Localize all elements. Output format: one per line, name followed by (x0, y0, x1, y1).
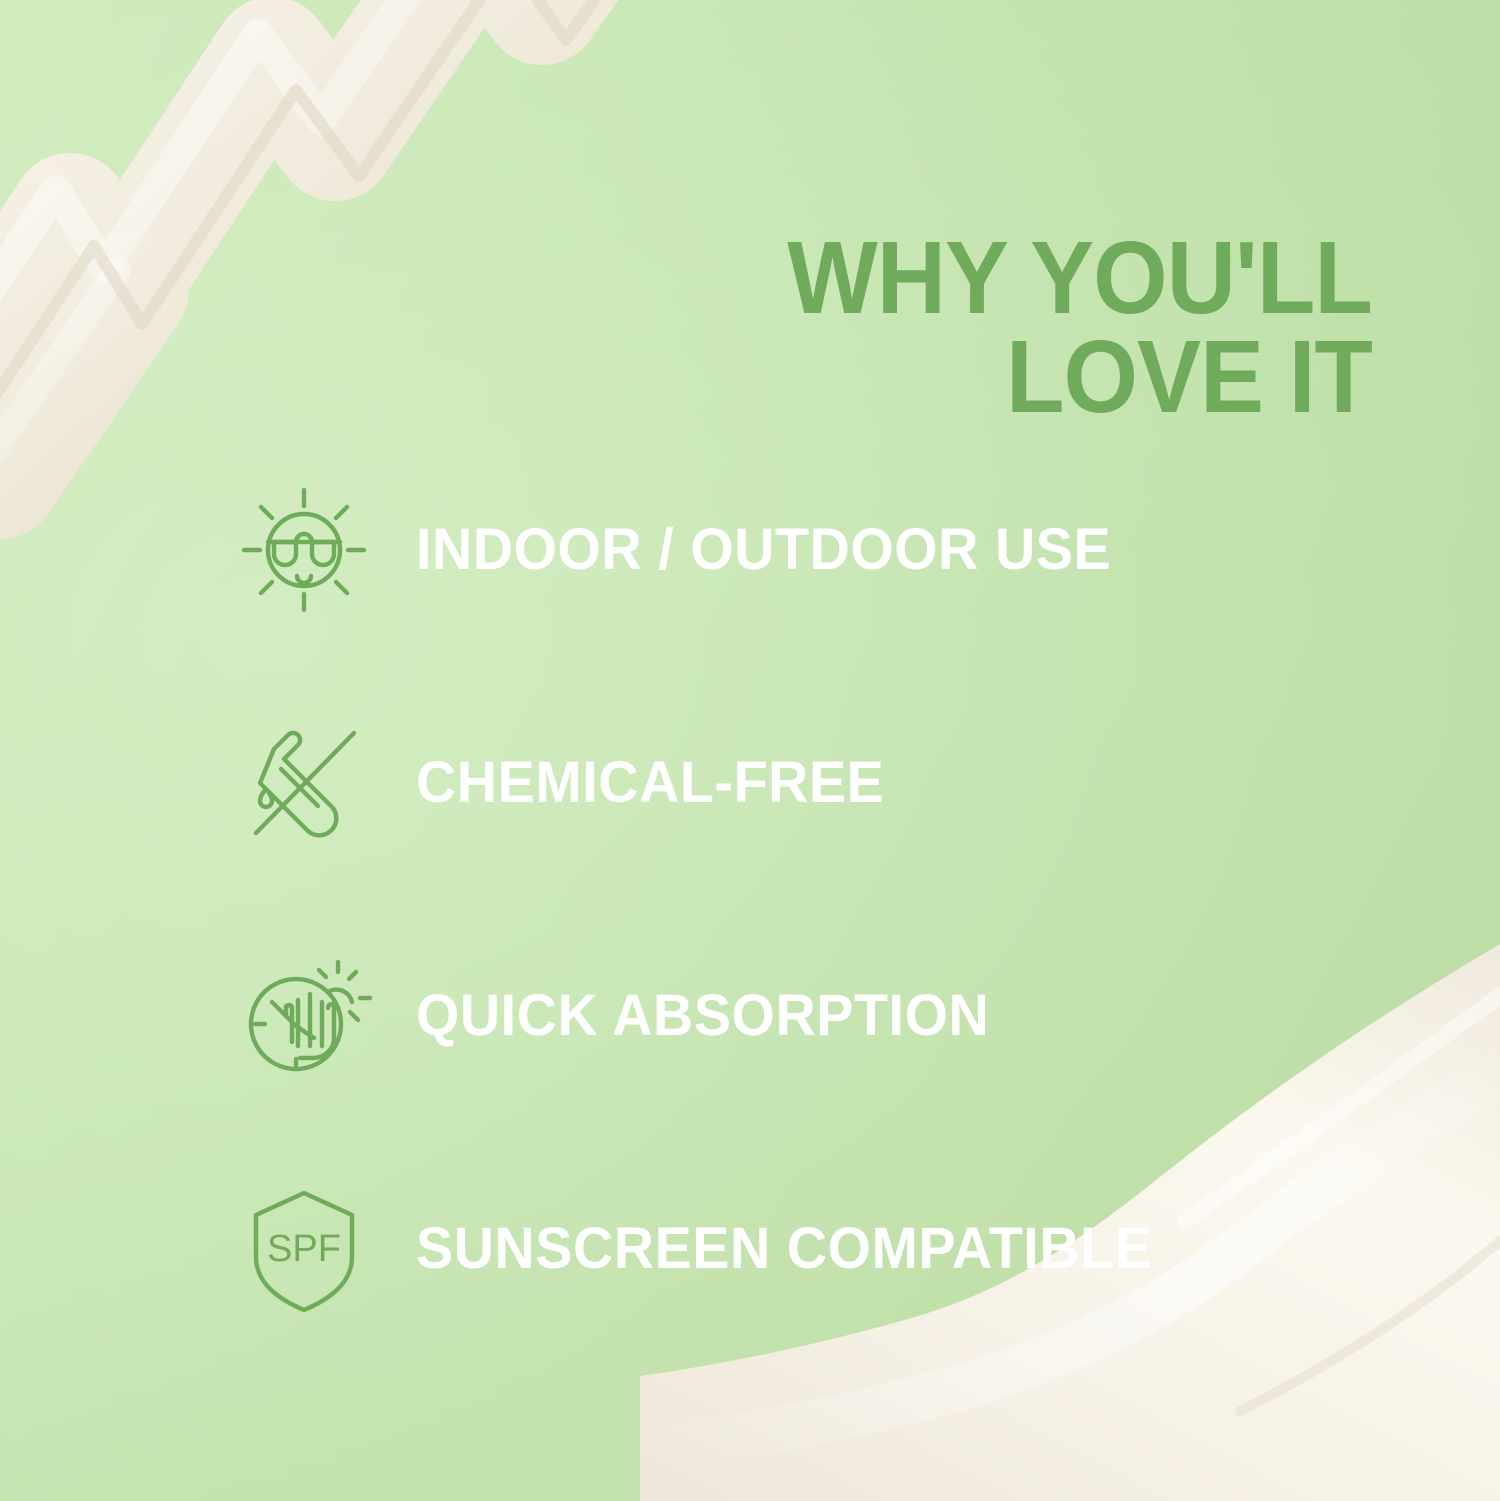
sun-sunglasses-icon (234, 480, 374, 620)
feature-label-indoor-outdoor-use: INDOOR / OUTDOOR USE (416, 521, 1111, 579)
feature-list: INDOOR / OUTDOOR USE CHEMICAL-FREE (234, 470, 1414, 1329)
test-tube-crossed-out-icon (234, 713, 374, 853)
page-title: WHY YOU'LLLOVE IT (665, 229, 1372, 427)
feature-row-chemical-free: CHEMICAL-FREE (234, 703, 1414, 863)
feature-label-chemical-free: CHEMICAL-FREE (416, 754, 884, 812)
feature-row-quick-absorption: QUICK ABSORPTION (234, 936, 1414, 1096)
spf-shield-text: SPF (267, 1228, 341, 1270)
page-title-line-1: WHY YOU'LL (787, 220, 1372, 335)
feature-label-sunscreen-compatible: SUNSCREEN COMPATIBLE (416, 1220, 1152, 1278)
clock-hand-sun-icon (234, 946, 374, 1086)
page-title-line-2: LOVE IT (1006, 319, 1372, 434)
promo-poster: WHY YOU'LLLOVE IT (0, 0, 1500, 1501)
feature-label-quick-absorption: QUICK ABSORPTION (416, 987, 989, 1045)
feature-row-sunscreen-compatible: SPF SUNSCREEN COMPATIBLE (234, 1169, 1414, 1329)
feature-row-indoor-outdoor-use: INDOOR / OUTDOOR USE (234, 470, 1414, 630)
spf-shield-icon: SPF (234, 1179, 374, 1319)
